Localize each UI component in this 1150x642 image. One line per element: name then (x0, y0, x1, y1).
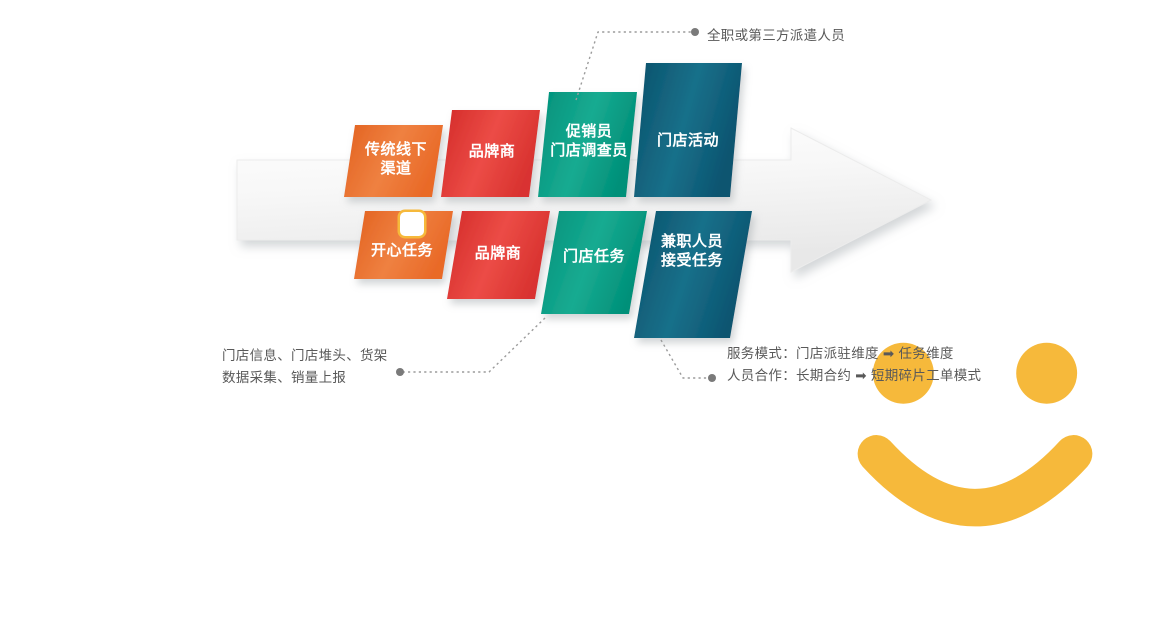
chevron-top-2[interactable] (441, 110, 540, 197)
chevron-top-1[interactable] (344, 125, 443, 197)
chevron-top-3[interactable] (538, 92, 637, 197)
annotation-top-right: 全职或第三方派遣人员 (707, 25, 845, 47)
annotation-bottom-right: 服务模式：门店派驻维度 ➡ 任务维度 人员合作：长期合约 ➡ 短期碎片工单模式 (727, 343, 981, 387)
annotation-bottom-left: 门店信息、门店堆头、货架 数据采集、销量上报 (222, 345, 388, 389)
chevron-top-4[interactable] (634, 63, 742, 197)
top-row-chevrons (344, 63, 742, 197)
smiley-icon (400, 212, 424, 236)
diagram-canvas: 传统线下 渠道 品牌商 促销员 门店调查员 门店活动 开心任务 品牌商 门店任务… (0, 0, 1150, 430)
